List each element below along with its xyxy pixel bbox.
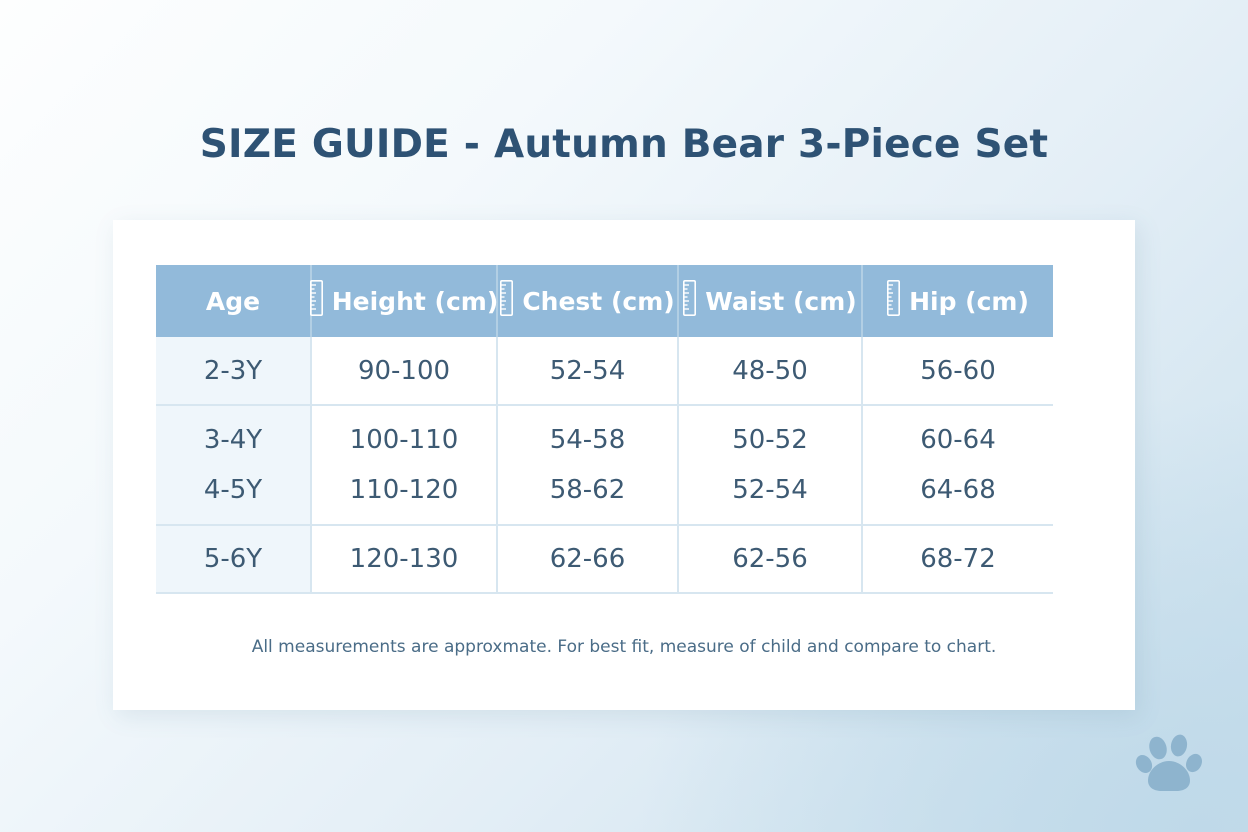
table-header-row: Age: [156, 265, 1053, 337]
table-row-group: 3-4Y 4-5Y 100-110 110-120 54-58 58-62 50…: [156, 405, 1053, 525]
size-guide-card: Age: [113, 220, 1135, 710]
cell-height: 90-100: [311, 337, 497, 405]
cell-height-line: 100-110: [312, 415, 496, 465]
cell-age: 2-3Y: [156, 337, 311, 405]
column-header-waist: Waist (cm): [678, 265, 862, 337]
cell-age: 5-6Y: [156, 525, 311, 593]
size-table: Age: [156, 265, 1053, 594]
ruler-icon: [887, 280, 900, 322]
column-header-age-label: Age: [206, 287, 260, 316]
column-header-chest-label: Chest (cm): [522, 287, 674, 316]
cell-chest: 54-58 58-62: [497, 405, 678, 525]
table-header: Age: [156, 265, 1053, 337]
cell-height-line: 110-120: [312, 465, 496, 515]
size-table-container: Age: [156, 265, 1053, 594]
paw-print-logo: [1134, 730, 1206, 802]
table-row: 2-3Y 90-100 52-54 48-50 56-60: [156, 337, 1053, 405]
cell-hip: 56-60: [862, 337, 1053, 405]
cell-hip: 68-72: [862, 525, 1053, 593]
column-header-height: Height (cm): [311, 265, 497, 337]
table-row: 5-6Y 120-130 62-66 62-56 68-72: [156, 525, 1053, 593]
cell-hip-line: 60-64: [863, 415, 1053, 465]
cell-waist-line: 50-52: [679, 415, 861, 465]
cell-hip: 60-64 64-68: [862, 405, 1053, 525]
column-header-waist-label: Waist (cm): [705, 287, 856, 316]
ruler-icon: [310, 280, 323, 322]
footnote: All measurements are approxmate. For bes…: [113, 637, 1135, 657]
page-title: SIZE GUIDE - Autumn Bear 3-Piece Set: [0, 122, 1248, 167]
cell-height: 100-110 110-120: [311, 405, 497, 525]
cell-age-line: 3-4Y: [156, 415, 310, 465]
column-header-height-label: Height (cm): [332, 287, 499, 316]
cell-hip-line: 64-68: [863, 465, 1053, 515]
table-body: 2-3Y 90-100 52-54 48-50 56-60 3-4Y 4-5Y …: [156, 337, 1053, 593]
cell-chest: 62-66: [497, 525, 678, 593]
cell-age-line: 4-5Y: [156, 465, 310, 515]
cell-chest-line: 54-58: [498, 415, 677, 465]
cell-waist: 50-52 52-54: [678, 405, 862, 525]
ruler-icon: [500, 280, 513, 322]
cell-waist: 48-50: [678, 337, 862, 405]
cell-waist-line: 52-54: [679, 465, 861, 515]
cell-chest-line: 58-62: [498, 465, 677, 515]
column-header-chest: Chest (cm): [497, 265, 678, 337]
cell-chest: 52-54: [497, 337, 678, 405]
cell-waist: 62-56: [678, 525, 862, 593]
cell-age: 3-4Y 4-5Y: [156, 405, 311, 525]
column-header-hip: Hip (cm): [862, 265, 1053, 337]
column-header-hip-label: Hip (cm): [909, 287, 1029, 316]
ruler-icon: [683, 280, 696, 322]
column-header-age: Age: [156, 265, 311, 337]
cell-height: 120-130: [311, 525, 497, 593]
